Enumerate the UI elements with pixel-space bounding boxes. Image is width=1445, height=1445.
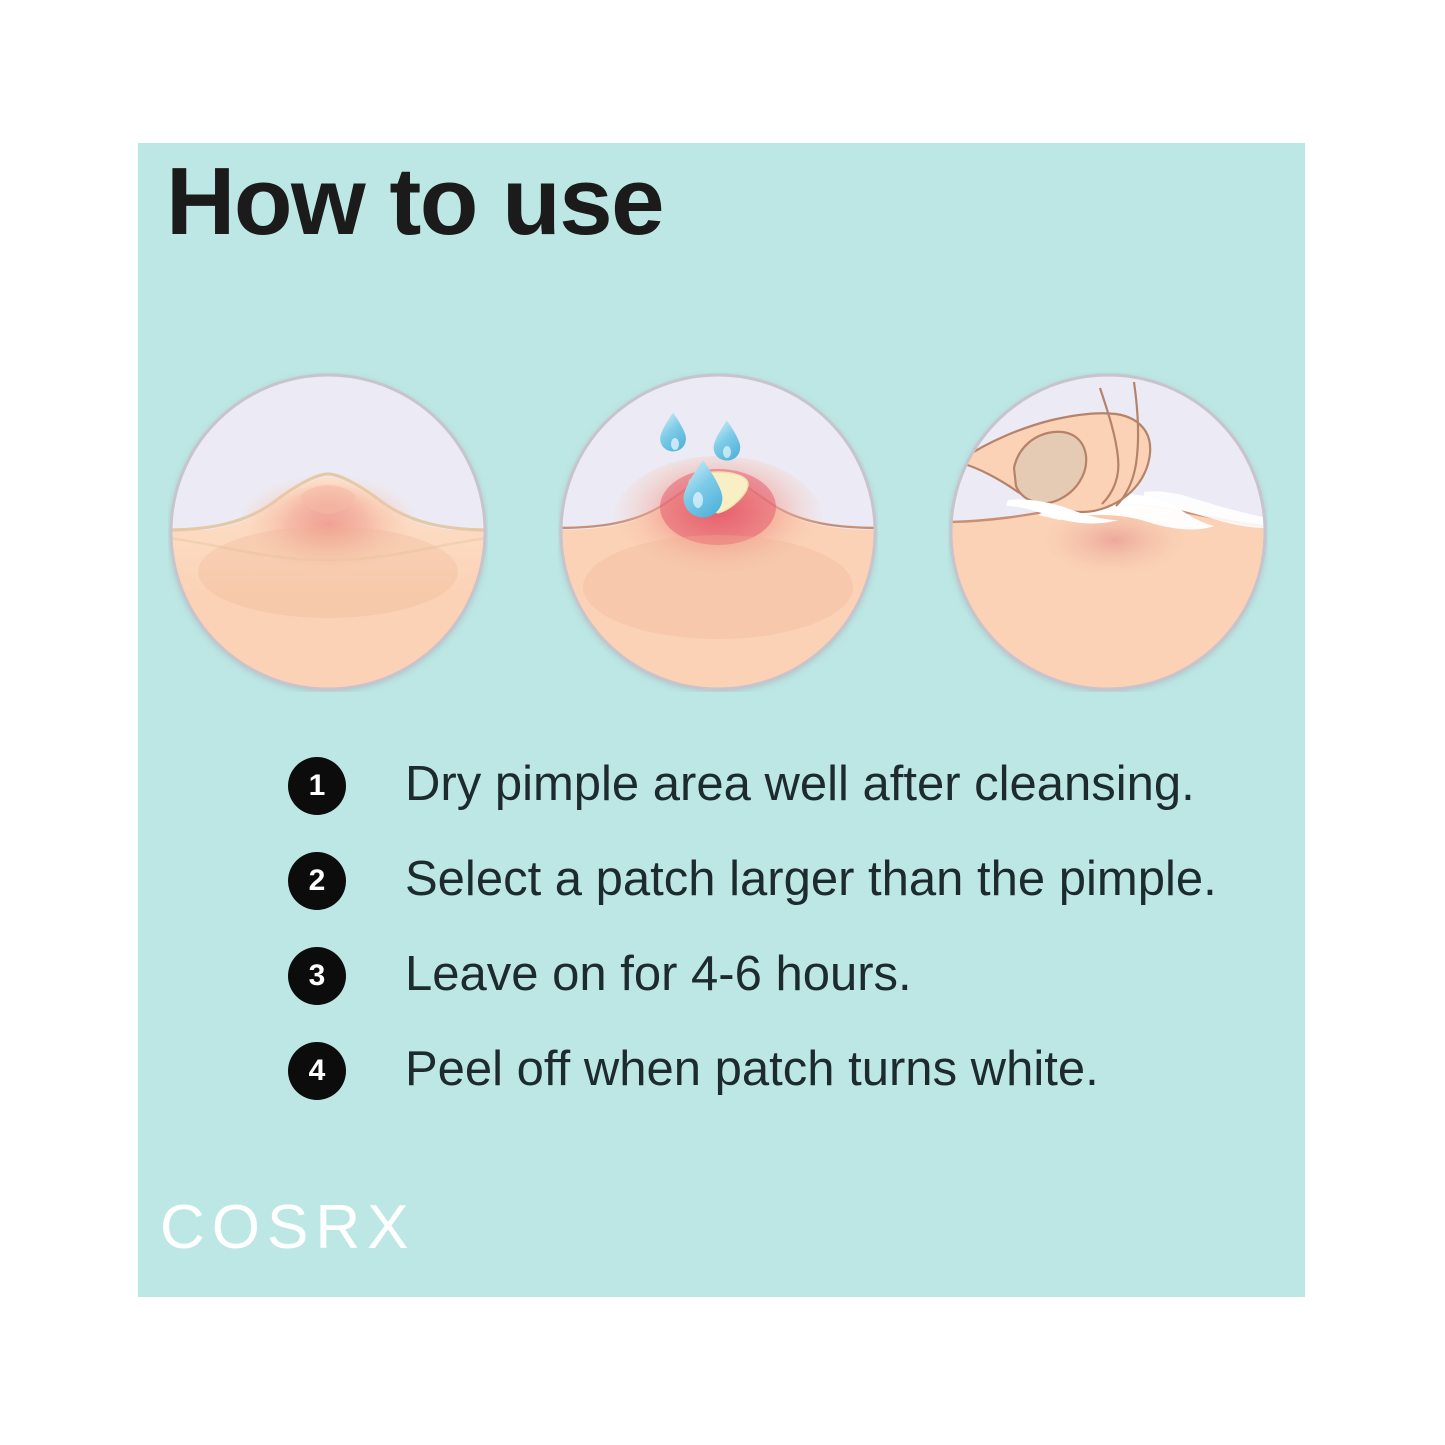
- step-badge-3: 3: [288, 947, 346, 1005]
- illustration-pimple-dry: [168, 372, 488, 692]
- step-text-3: Leave on for 4-6 hours.: [405, 943, 912, 1005]
- list-item: 1 Dry pimple area well after cleansing.: [288, 755, 1298, 850]
- step-badge-1: 1: [288, 757, 346, 815]
- list-item: 4 Peel off when patch turns white.: [288, 1040, 1298, 1135]
- step-text-4: Peel off when patch turns white.: [405, 1038, 1099, 1100]
- illustration-row: [138, 372, 1305, 702]
- page-title: How to use: [166, 149, 663, 255]
- brand-logo: COSRX: [160, 1197, 415, 1259]
- instruction-graphic: How to use: [0, 0, 1445, 1445]
- step-badge-2: 2: [288, 852, 346, 910]
- illustration-peel-patch: [948, 372, 1268, 692]
- list-item: 2 Select a patch larger than the pimple.: [288, 850, 1298, 945]
- steps-list: 1 Dry pimple area well after cleansing. …: [288, 755, 1298, 1135]
- list-item: 3 Leave on for 4-6 hours.: [288, 945, 1298, 1040]
- step-text-1: Dry pimple area well after cleansing.: [405, 753, 1195, 815]
- step-badge-4: 4: [288, 1042, 346, 1100]
- mint-panel: How to use: [138, 143, 1305, 1297]
- step-text-2: Select a patch larger than the pimple.: [405, 848, 1217, 910]
- illustration-pimple-wet: [558, 372, 878, 692]
